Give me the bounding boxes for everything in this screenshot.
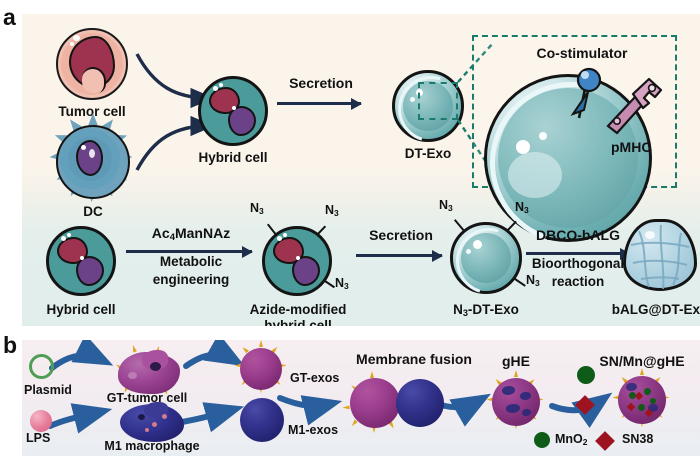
m1-exos-graphic bbox=[240, 398, 286, 444]
product-label: SN/Mn@gHE bbox=[599, 354, 684, 369]
lps-label: LPS bbox=[26, 432, 50, 445]
legend-mno2-label: MnO2 bbox=[555, 433, 588, 447]
gt-exos-graphic bbox=[238, 346, 286, 394]
dt-exo-label: DT-Exo bbox=[405, 147, 452, 161]
metabolic-engineering-line2: engineering bbox=[153, 273, 230, 287]
panel-letter-a: a bbox=[3, 6, 16, 29]
azide-cell-label-line2: hybrid cell bbox=[264, 319, 332, 326]
dc-cell-graphic bbox=[53, 122, 133, 202]
ghe-graphic bbox=[490, 376, 544, 430]
balg-dt-exo-graphic bbox=[623, 219, 697, 293]
metabolic-engineering-line1: Metabolic bbox=[160, 255, 222, 269]
hybrid-cell-label-row2: Hybrid cell bbox=[46, 303, 115, 317]
n3-exo-tag-2: N3 bbox=[515, 201, 529, 215]
azide-tag-2: N3 bbox=[325, 204, 339, 218]
figure-root: a b Tumor cell bbox=[0, 0, 700, 456]
n3-exo-tag-3: N3 bbox=[526, 274, 540, 288]
reagent-dbco-balg-label: DBCO-bALG bbox=[536, 228, 620, 243]
lps-icon bbox=[30, 410, 52, 432]
plasmid-icon bbox=[29, 354, 54, 379]
bioorthogonal-line2: reaction bbox=[552, 275, 605, 289]
membrane-fusion-graphic bbox=[348, 376, 458, 430]
panel-a: Tumor cell DC bbox=[22, 14, 700, 326]
gt-exos-label: GT-exos bbox=[290, 372, 339, 385]
panel-letter-b: b bbox=[3, 334, 17, 357]
secretion-arrow-row2 bbox=[356, 254, 442, 257]
plasmid-label: Plasmid bbox=[24, 384, 72, 397]
n3-dt-exo-graphic bbox=[450, 222, 522, 294]
m1-exos-label: M1-exos bbox=[288, 424, 338, 437]
pmhc-label: pMHC bbox=[611, 140, 651, 155]
m1-macrophage-label: M1 macrophage bbox=[104, 440, 199, 453]
tumor-cell-graphic bbox=[56, 28, 128, 100]
ghe-label: gHE bbox=[502, 354, 530, 369]
sn-mn-ghe-graphic bbox=[616, 374, 670, 428]
hybrid-cell-graphic-row2 bbox=[46, 226, 116, 296]
n3-dt-exo-label: N3-DT-Exo bbox=[453, 303, 519, 319]
dc-cell-label: DC bbox=[83, 205, 103, 219]
membrane-fusion-label: Membrane fusion bbox=[356, 352, 472, 367]
legend-mno2-swatch bbox=[534, 432, 550, 448]
n3-exo-tag-1: N3 bbox=[439, 199, 453, 213]
co-stimulator-label: Co-stimulator bbox=[537, 46, 628, 61]
azide-hybrid-cell-graphic bbox=[262, 226, 332, 296]
azide-cell-label-line1: Azide-modified bbox=[250, 303, 347, 317]
bioorthogonal-line1: Bioorthogonal bbox=[532, 257, 624, 271]
azide-tag-3: N3 bbox=[335, 277, 349, 291]
secretion-label-row1: Secretion bbox=[289, 76, 353, 91]
panel-b: Plasmid GT-tumor cell LPS M1 macr bbox=[22, 340, 700, 456]
legend-sn38-label: SN38 bbox=[622, 433, 653, 446]
secretion-label-row2: Secretion bbox=[369, 228, 433, 243]
reagent-ac4mannaz-label: Ac4ManNAz bbox=[152, 226, 230, 243]
hybrid-cell-graphic-row1 bbox=[198, 76, 268, 146]
bioorthogonal-reaction-arrow bbox=[526, 252, 630, 255]
secretion-arrow-row1 bbox=[277, 102, 361, 105]
balg-dt-exo-label: bALG@DT-Exo bbox=[612, 303, 700, 317]
pmhc-icon bbox=[605, 74, 667, 136]
metabolic-engineering-arrow bbox=[126, 250, 252, 253]
azide-tag-1: N3 bbox=[250, 202, 264, 216]
mno2-cargo-icon bbox=[577, 366, 595, 384]
hybrid-cell-label-row1: Hybrid cell bbox=[198, 151, 267, 165]
